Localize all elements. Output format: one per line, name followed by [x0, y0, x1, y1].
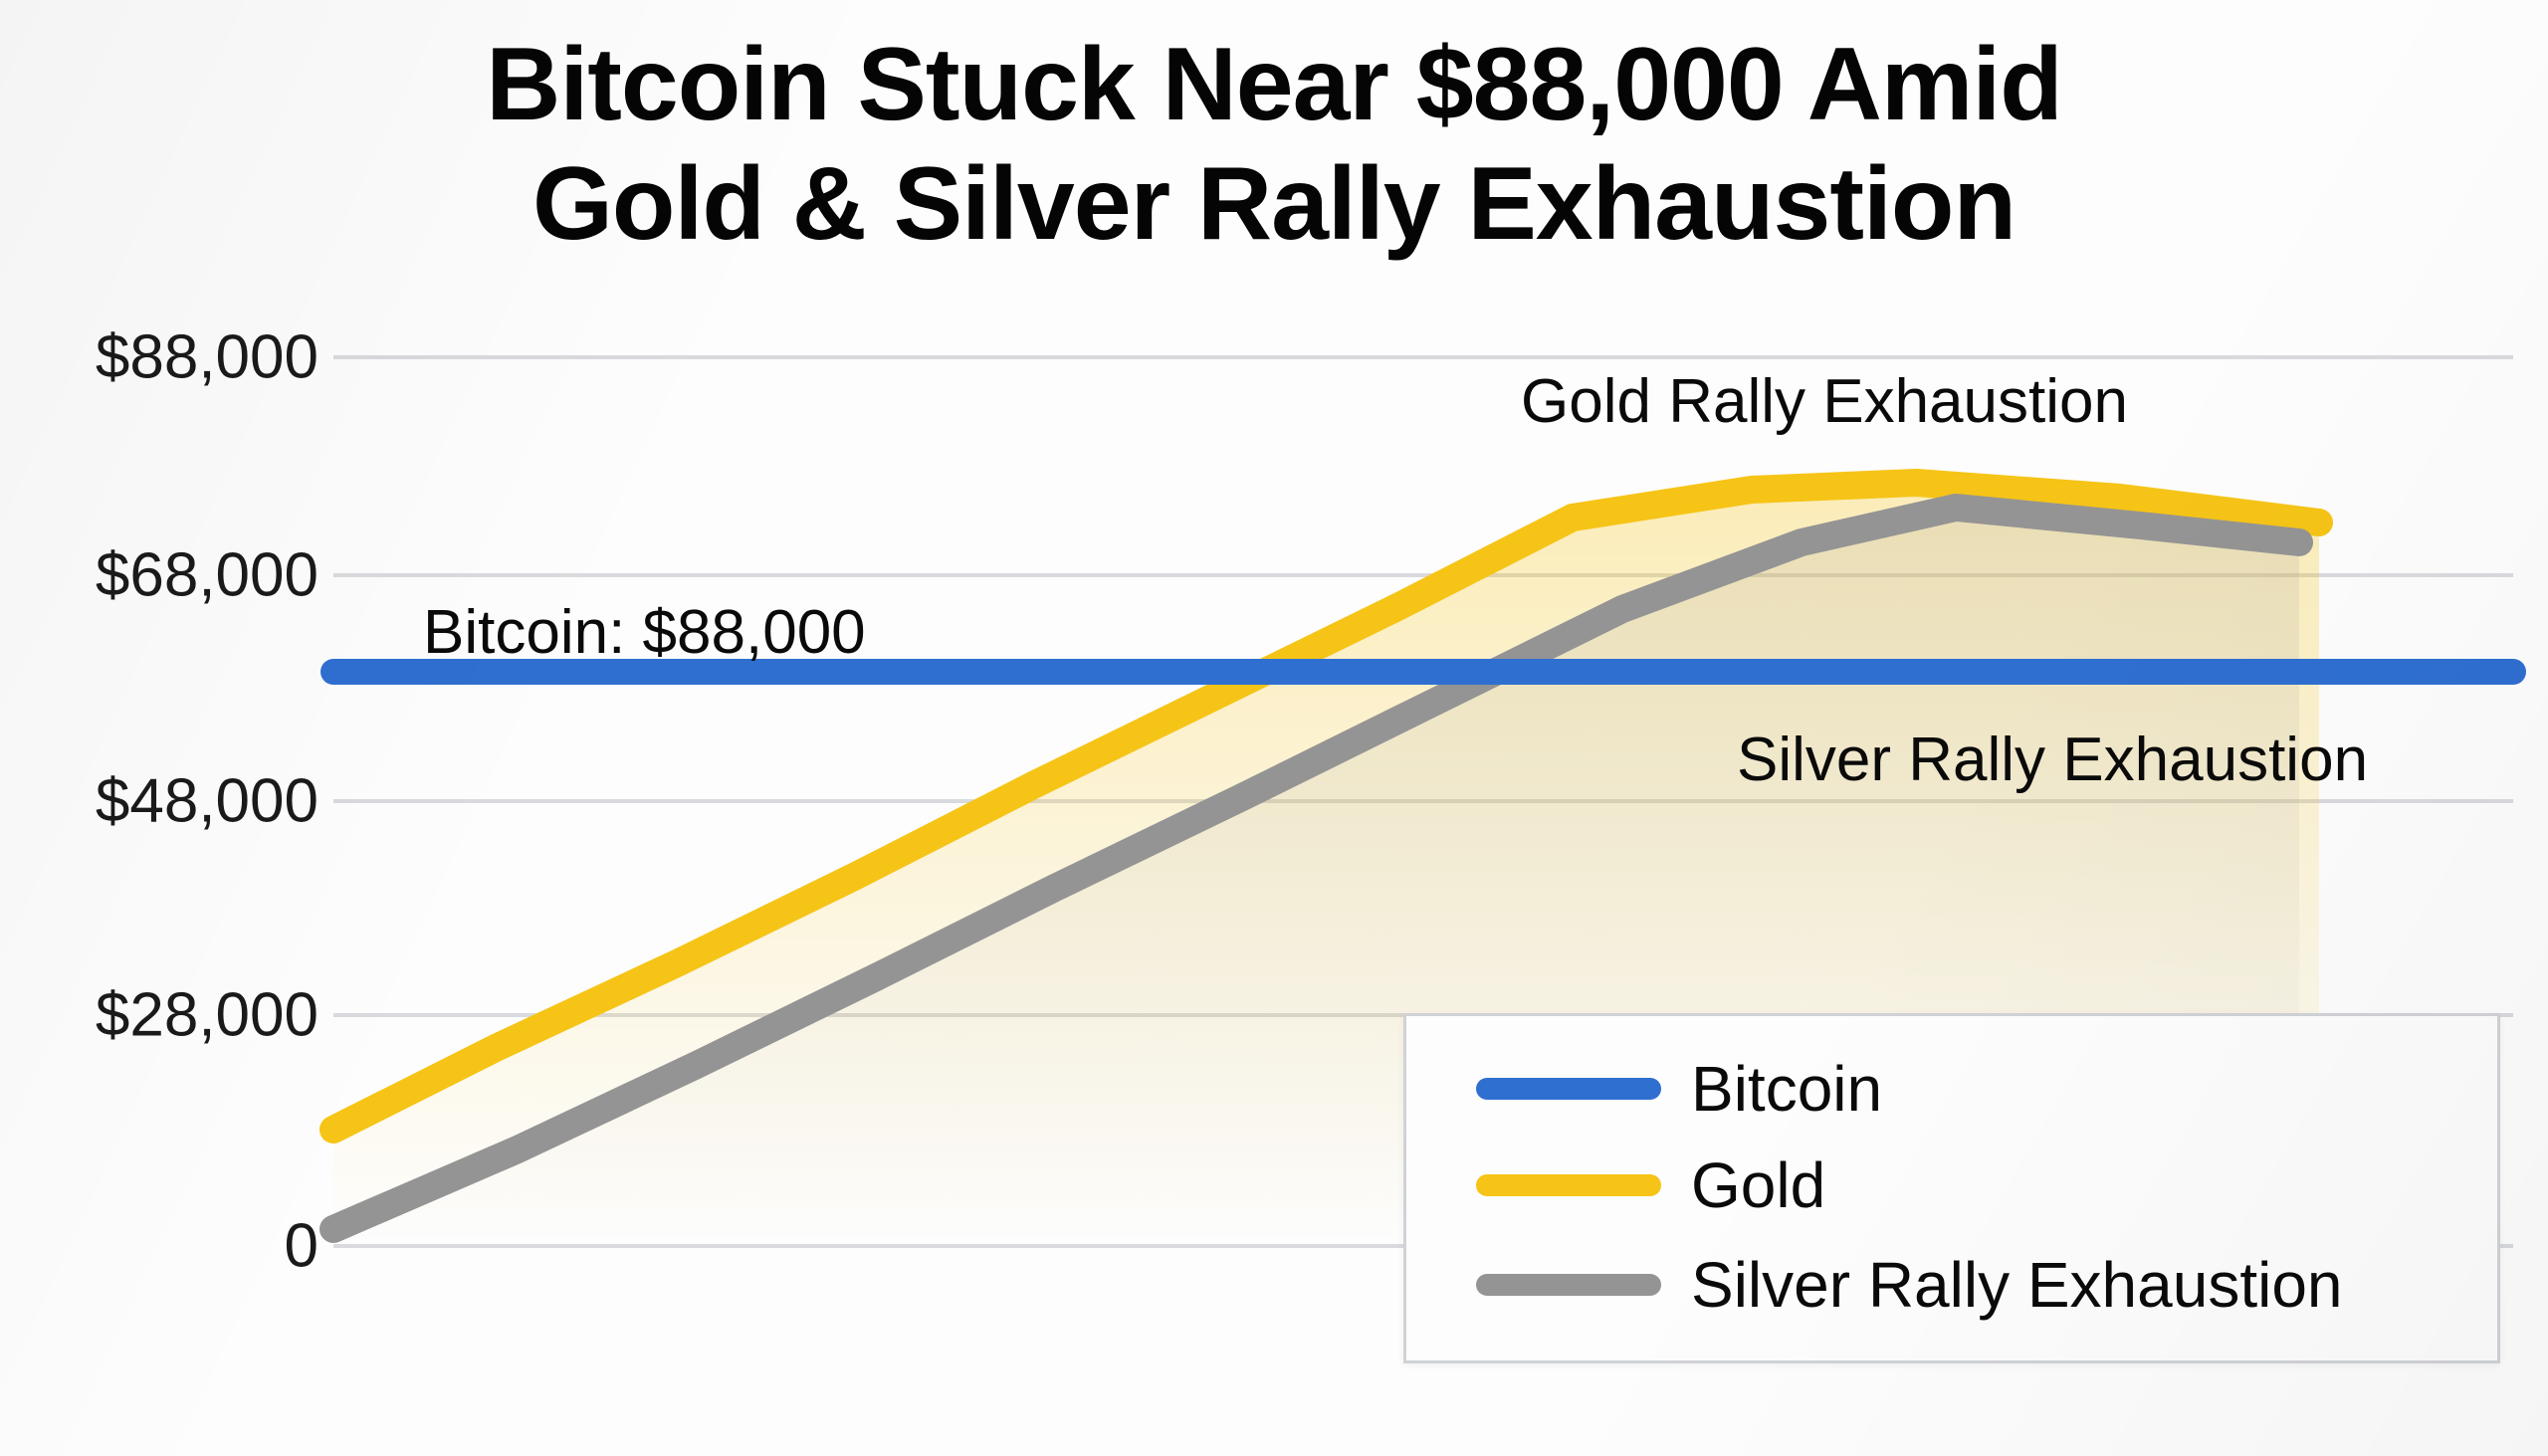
ytick-label-0: 0	[0, 1211, 318, 1282]
legend-item-silver[interactable]: Silver Rally Exhaustion	[1476, 1250, 2343, 1320]
chart-legend: Bitcoin Gold Silver Rally Exhaustion	[1403, 1013, 2500, 1363]
legend-label-bitcoin: Bitcoin	[1691, 1052, 1882, 1126]
ytick-label-48000: $48,000	[0, 766, 318, 837]
ytick-label-28000: $28,000	[0, 980, 318, 1051]
ytick-label-88000: $88,000	[0, 322, 318, 393]
annotation-silver-rally-exhaustion: Silver Rally Exhaustion	[1737, 725, 2368, 795]
legend-swatch-gold	[1476, 1174, 1661, 1196]
legend-item-gold[interactable]: Gold	[1476, 1150, 1825, 1220]
ytick-label-68000: $68,000	[0, 540, 318, 611]
legend-item-bitcoin[interactable]: Bitcoin	[1476, 1054, 1882, 1124]
annotation-gold-rally-exhaustion: Gold Rally Exhaustion	[1521, 366, 2128, 437]
annotation-bitcoin-price: Bitcoin: $88,000	[423, 597, 866, 668]
legend-swatch-bitcoin	[1476, 1078, 1661, 1100]
legend-label-silver: Silver Rally Exhaustion	[1691, 1248, 2343, 1322]
legend-label-gold: Gold	[1691, 1148, 1825, 1222]
chart-page: Bitcoin Stuck Near $88,000 Amid Gold & S…	[0, 0, 2548, 1456]
legend-swatch-silver	[1476, 1274, 1661, 1296]
